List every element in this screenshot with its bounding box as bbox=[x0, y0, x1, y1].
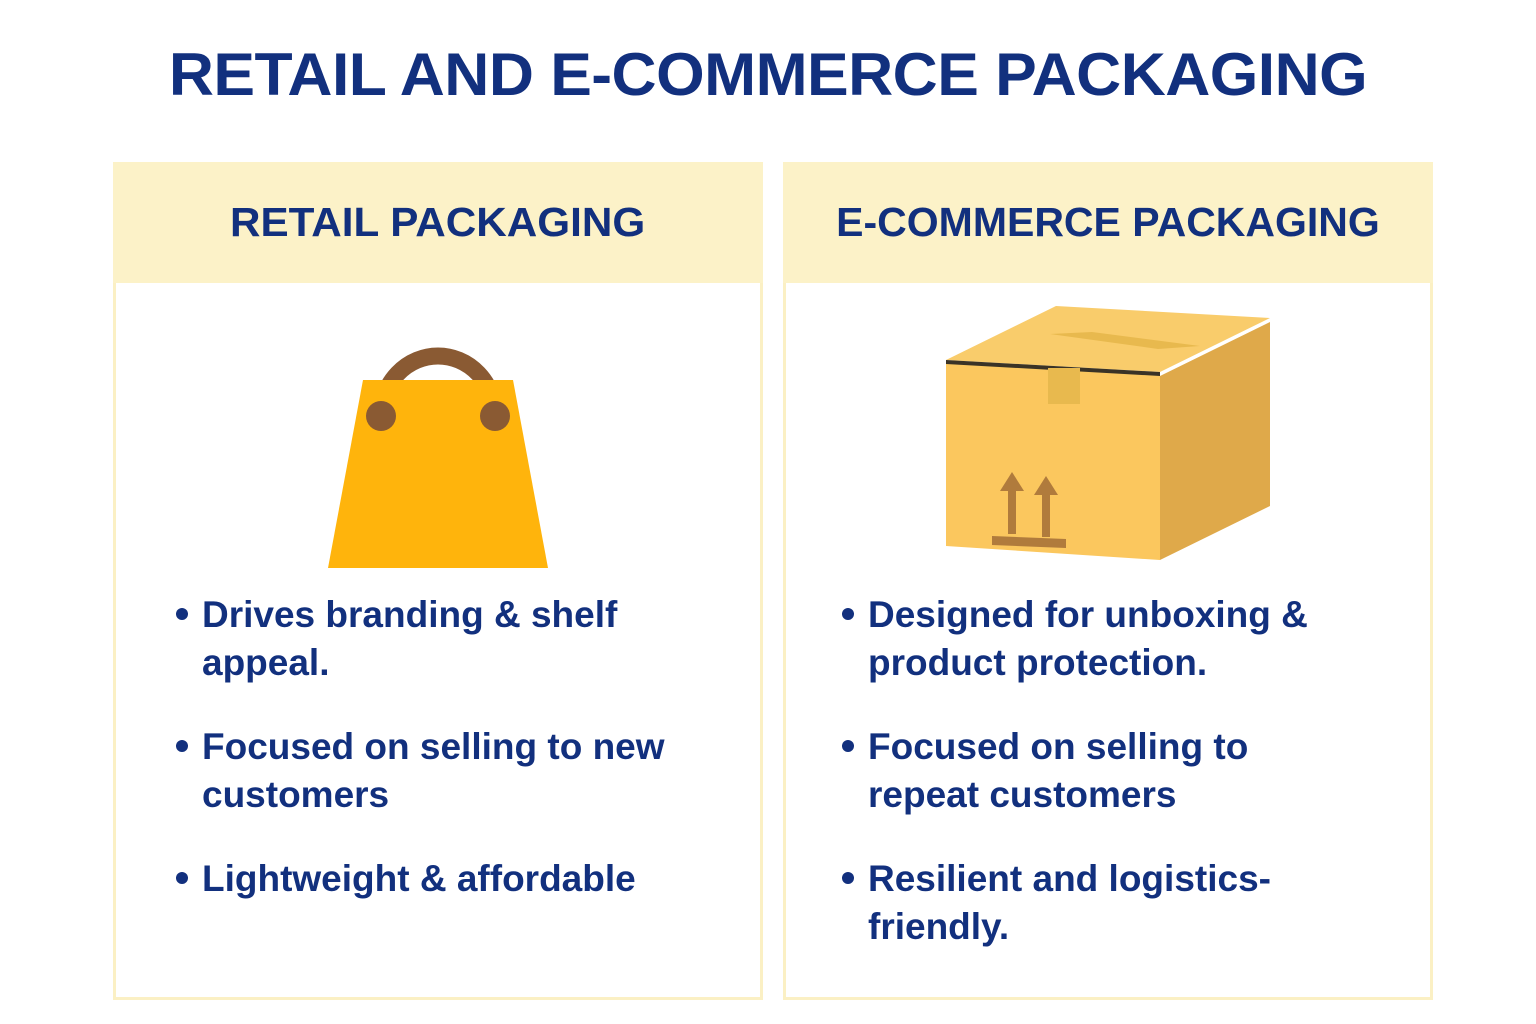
panel-header-retail: RETAIL PACKAGING bbox=[113, 162, 763, 283]
bullet-dot-icon bbox=[842, 608, 854, 620]
comparison-panels: RETAIL PACKAGING Drives branding bbox=[113, 162, 1433, 1000]
shopping-bag-icon bbox=[303, 298, 573, 578]
list-item: Focused on selling to new customers bbox=[176, 723, 760, 819]
cardboard-box-icon bbox=[938, 298, 1278, 578]
ecommerce-bullet-list: Designed for unboxing & product protecti… bbox=[786, 591, 1430, 988]
list-item-label: Resilient and logistics-friendly. bbox=[868, 855, 1363, 951]
panel-retail-packaging: RETAIL PACKAGING Drives branding bbox=[113, 162, 763, 1000]
panel-ecommerce-packaging: E-COMMERCE PACKAGING bbox=[783, 162, 1433, 1000]
list-item-label: Drives branding & shelf appeal. bbox=[202, 591, 672, 687]
ecommerce-icon-area bbox=[786, 293, 1430, 583]
retail-icon-area bbox=[116, 293, 760, 583]
bullet-dot-icon bbox=[842, 872, 854, 884]
panel-body-retail: Drives branding & shelf appeal. Focused … bbox=[116, 283, 760, 997]
panel-header-ecommerce: E-COMMERCE PACKAGING bbox=[783, 162, 1433, 283]
bullet-dot-icon bbox=[176, 872, 188, 884]
panel-header-retail-label: RETAIL PACKAGING bbox=[230, 199, 645, 246]
panel-header-ecommerce-label: E-COMMERCE PACKAGING bbox=[836, 199, 1380, 246]
list-item-label: Designed for unboxing & product protecti… bbox=[868, 591, 1363, 687]
list-item-label: Focused on selling to new customers bbox=[202, 723, 672, 819]
bullet-dot-icon bbox=[842, 740, 854, 752]
retail-bullet-list: Drives branding & shelf appeal. Focused … bbox=[116, 591, 760, 939]
list-item: Designed for unboxing & product protecti… bbox=[842, 591, 1430, 687]
bullet-dot-icon bbox=[176, 740, 188, 752]
list-item: Resilient and logistics-friendly. bbox=[842, 855, 1430, 951]
page-title: RETAIL AND E-COMMERCE PACKAGING bbox=[0, 40, 1536, 109]
panel-body-ecommerce: Designed for unboxing & product protecti… bbox=[786, 283, 1430, 997]
list-item: Lightweight & affordable bbox=[176, 855, 760, 903]
list-item-label: Lightweight & affordable bbox=[202, 855, 636, 903]
list-item: Focused on selling to repeat customers bbox=[842, 723, 1430, 819]
list-item: Drives branding & shelf appeal. bbox=[176, 591, 760, 687]
list-item-label: Focused on selling to repeat customers bbox=[868, 723, 1363, 819]
bullet-dot-icon bbox=[176, 608, 188, 620]
